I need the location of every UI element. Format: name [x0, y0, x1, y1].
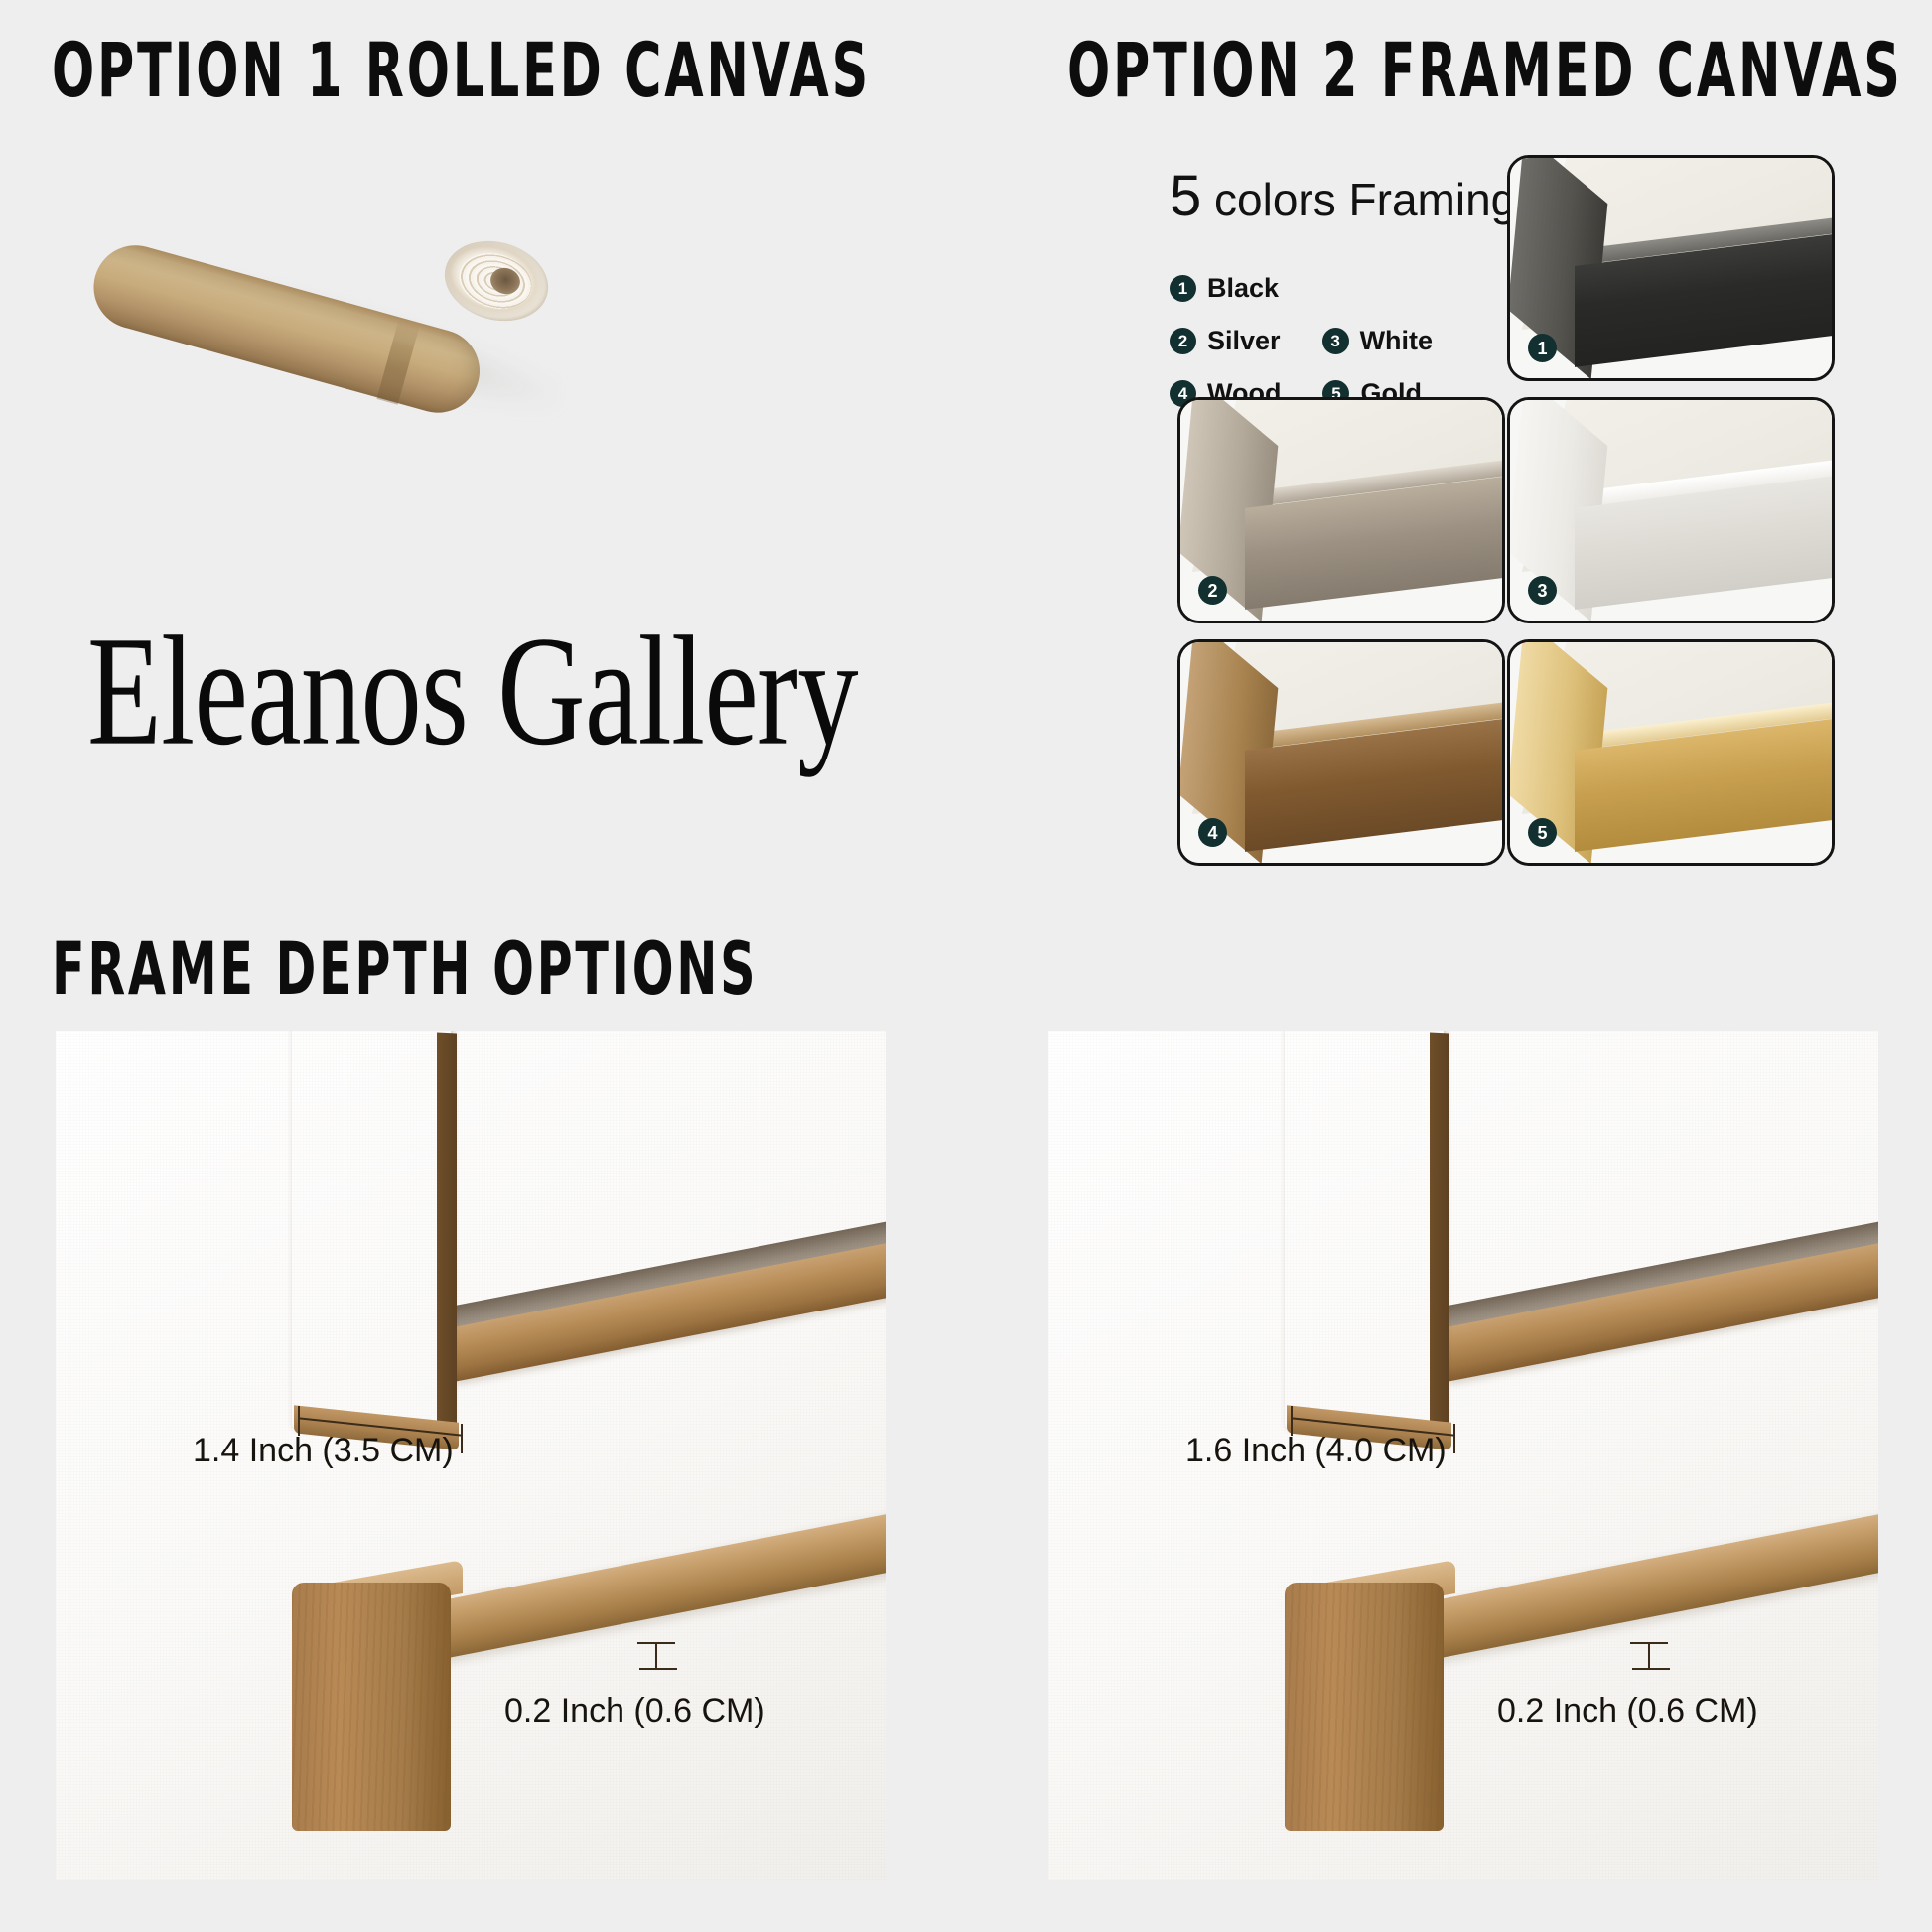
- legend-item-white[interactable]: 3 White: [1322, 326, 1434, 356]
- heading-option-1-rolled-canvas: OPTION 1 ROLLED CANVAS: [52, 26, 871, 114]
- heading-frame-depth-options: FRAME DEPTH OPTIONS: [52, 927, 758, 1012]
- frame-corner-photo-gold: [1510, 642, 1832, 863]
- frame-lower-corner-block: [1285, 1583, 1444, 1831]
- dimension-tick-bottom: [1632, 1668, 1670, 1670]
- canvas-background: [1048, 1031, 1878, 1880]
- badge-number-icon: 3: [1528, 576, 1557, 605]
- dimension-tick-right: [461, 1424, 463, 1453]
- badge-number-icon: 3: [1322, 328, 1349, 354]
- badge-number-icon: 4: [1198, 818, 1227, 847]
- dimension-tick-bottom: [639, 1668, 677, 1670]
- dimension-label-depth: 1.4 Inch (3.5 CM): [193, 1432, 454, 1470]
- frame-depth-photo-1-4-inch[interactable]: 1.4 Inch (3.5 CM) 0.2 Inch (0.6 CM): [56, 1031, 886, 1880]
- badge-number-icon: 2: [1170, 328, 1196, 354]
- frame-stile-edge: [1430, 1032, 1449, 1422]
- framing-color-legend: 5 colors Framing 1 Black 2 Silver 3 Whit…: [1170, 163, 1527, 431]
- brand-wordmark: Eleanos Gallery: [87, 602, 858, 781]
- frame-vertical-stile: [1285, 1031, 1444, 1430]
- frame-stile-edge: [437, 1032, 457, 1422]
- badge-number-icon: 5: [1528, 818, 1557, 847]
- frame-lower-corner-block: [292, 1583, 451, 1831]
- frame-swatch-panel-black[interactable]: 1: [1507, 155, 1835, 381]
- frame-corner-photo-wood: [1180, 642, 1502, 863]
- legend-row: 1 Black: [1170, 273, 1527, 304]
- legend-rows: 1 Black 2 Silver 3 White 4 Wood 5 Gold: [1170, 273, 1527, 409]
- dimension-label-depth: 1.6 Inch (4.0 CM): [1185, 1432, 1447, 1470]
- dimension-label-thickness: 0.2 Inch (0.6 CM): [1497, 1692, 1758, 1730]
- frame-corner-photo-black: [1510, 158, 1832, 378]
- badge-number-icon: 1: [1528, 334, 1557, 362]
- frame-swatch-panel-wood[interactable]: 4: [1177, 639, 1505, 866]
- frame-depth-photo-1-6-inch[interactable]: 1.6 Inch (4.0 CM) 0.2 Inch (0.6 CM): [1048, 1031, 1878, 1880]
- canvas-background: [56, 1031, 886, 1880]
- legend-label: Black: [1207, 273, 1279, 304]
- legend-title: 5 colors Framing: [1170, 163, 1527, 229]
- rolled-canvas-tube-figure: [89, 169, 586, 437]
- frame-swatch-panel-white[interactable]: 3: [1507, 397, 1835, 623]
- frame-vertical-stile: [292, 1031, 451, 1430]
- legend-item-silver[interactable]: 2 Silver: [1170, 326, 1281, 356]
- frame-corner-photo-white: [1510, 400, 1832, 621]
- dimension-line-thickness: [655, 1644, 657, 1668]
- legend-row: 2 Silver 3 White: [1170, 326, 1527, 356]
- badge-number-icon: 1: [1170, 275, 1196, 302]
- heading-option-2-framed-canvas: OPTION 2 FRAMED CANVAS: [1067, 26, 1903, 114]
- frame-swatch-panel-gold[interactable]: 5: [1507, 639, 1835, 866]
- tube-body: [84, 236, 489, 423]
- dimension-tick-right: [1453, 1424, 1455, 1453]
- legend-count: 5: [1170, 164, 1201, 228]
- badge-number-icon: 2: [1198, 576, 1227, 605]
- dimension-label-thickness: 0.2 Inch (0.6 CM): [504, 1692, 765, 1730]
- legend-label: Silver: [1207, 326, 1281, 356]
- legend-label: White: [1360, 326, 1434, 356]
- dimension-line-thickness: [1648, 1644, 1650, 1668]
- frame-corner-photo-silver: [1180, 400, 1502, 621]
- frame-swatch-panel-silver[interactable]: 2: [1177, 397, 1505, 623]
- legend-item-black[interactable]: 1 Black: [1170, 273, 1279, 304]
- legend-title-rest: colors Framing: [1214, 174, 1516, 225]
